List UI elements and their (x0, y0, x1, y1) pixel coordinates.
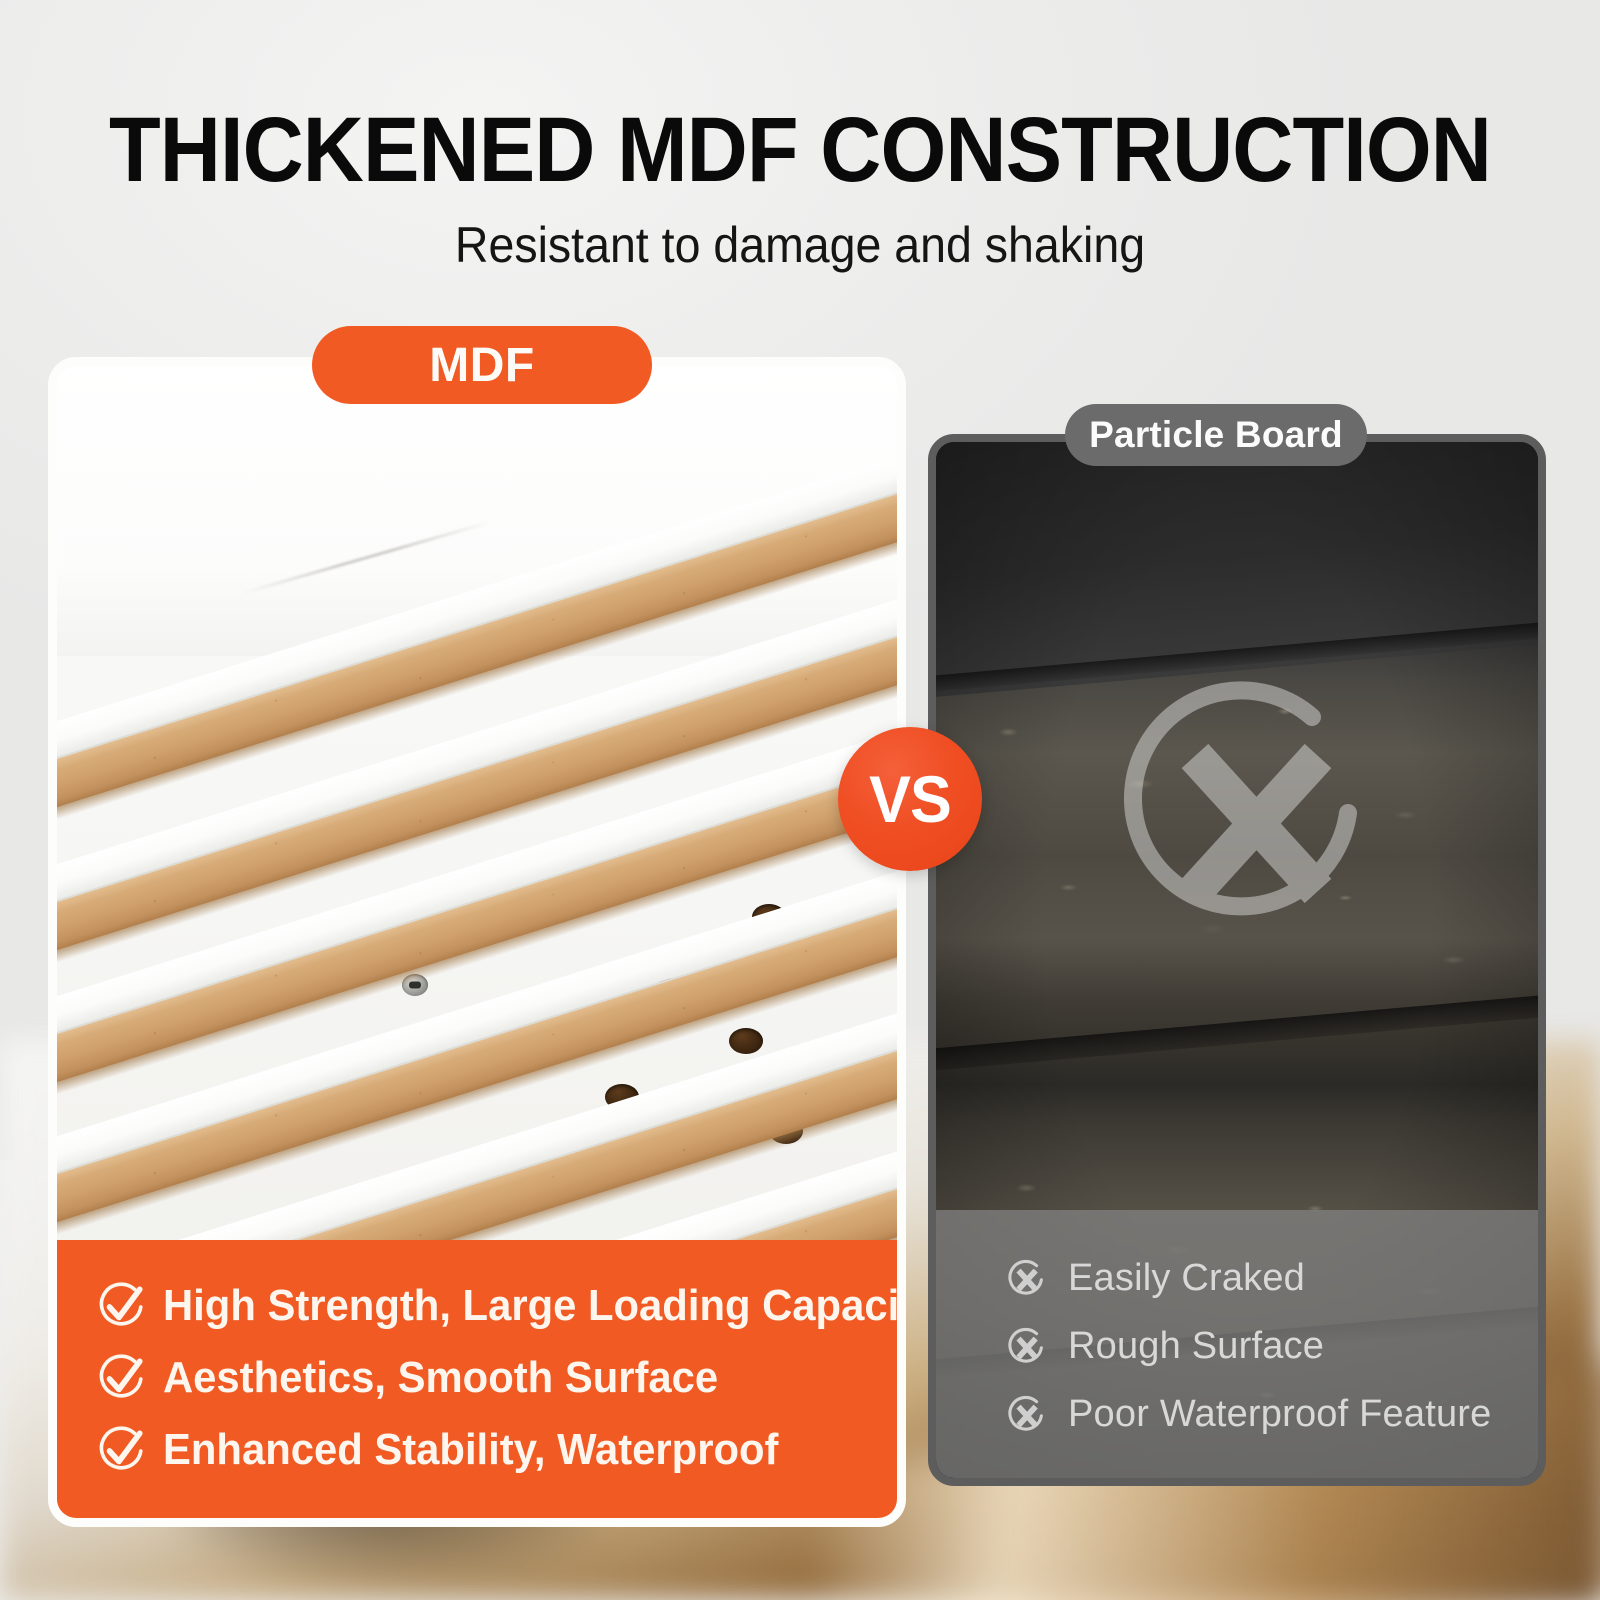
list-item: Rough Surface (1004, 1312, 1538, 1380)
x-circle-watermark-icon (1096, 657, 1396, 957)
con-label: Rough Surface (1068, 1325, 1324, 1368)
particle-board-panel: Easily Craked Rough Surface Poor Waterpr… (928, 434, 1546, 1486)
mdf-badge-label: MDF (429, 338, 534, 393)
check-circle-icon (95, 1352, 147, 1404)
x-circle-icon (1004, 1324, 1048, 1368)
dowel-hole (729, 1028, 763, 1054)
particle-board-badge-label: Particle Board (1089, 414, 1343, 456)
check-circle-icon (95, 1280, 147, 1332)
list-item: High Strength, Large Loading Capacity (95, 1270, 897, 1342)
list-item: Easily Craked (1004, 1244, 1538, 1312)
pro-label: Enhanced Stability, Waterproof (163, 1425, 778, 1475)
vs-badge: VS (838, 727, 982, 871)
x-circle-icon (1004, 1256, 1048, 1300)
header: THICKENED MDF CONSTRUCTION Resistant to … (0, 0, 1600, 270)
pro-label: Aesthetics, Smooth Surface (163, 1353, 718, 1403)
mdf-badge: MDF (312, 326, 652, 404)
list-item: Aesthetics, Smooth Surface (95, 1342, 897, 1414)
pro-label: High Strength, Large Loading Capacity (163, 1281, 906, 1331)
page-subtitle: Resistant to damage and shaking (56, 196, 1544, 270)
list-item: Poor Waterproof Feature (1004, 1380, 1538, 1448)
mdf-panel: High Strength, Large Loading Capacity Ae… (48, 357, 906, 1527)
cons-list: Easily Craked Rough Surface Poor Waterpr… (936, 1210, 1538, 1478)
list-item: Enhanced Stability, Waterproof (95, 1414, 897, 1486)
particle-board-badge: Particle Board (1065, 404, 1367, 466)
vs-label: VS (869, 761, 951, 837)
con-label: Poor Waterproof Feature (1068, 1393, 1492, 1436)
x-circle-icon (1004, 1392, 1048, 1436)
pros-list: High Strength, Large Loading Capacity Ae… (57, 1240, 897, 1518)
infographic-canvas: THICKENED MDF CONSTRUCTION Resistant to … (0, 0, 1600, 1600)
check-circle-icon (95, 1424, 147, 1476)
con-label: Easily Craked (1068, 1257, 1305, 1300)
page-title: THICKENED MDF CONSTRUCTION (64, 0, 1536, 196)
